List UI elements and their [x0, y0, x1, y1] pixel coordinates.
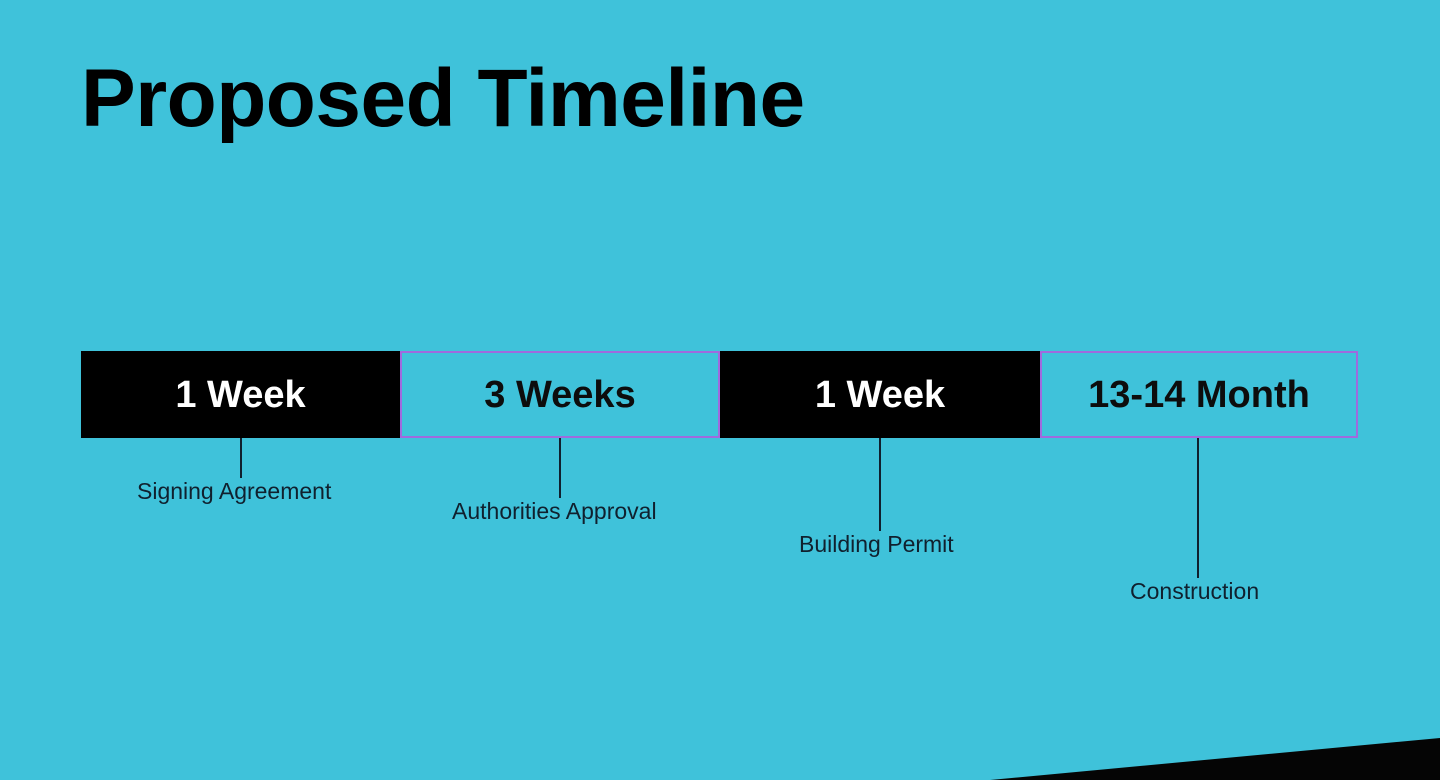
milestone-label-3: Building Permit: [799, 533, 954, 556]
timeline-segment-2-duration: 3 Weeks: [484, 376, 635, 414]
slide-canvas: Proposed Timeline 1 Week 3 Weeks 1 Week …: [0, 0, 1440, 780]
milestone-label-2: Authorities Approval: [452, 500, 657, 523]
connector-line-3: [879, 438, 881, 531]
timeline-segment-3[interactable]: 1 Week: [720, 351, 1040, 438]
timeline-segment-4-duration: 13-14 Month: [1088, 376, 1310, 414]
milestone-label-1: Signing Agreement: [137, 480, 331, 503]
timeline-segment-1[interactable]: 1 Week: [81, 351, 400, 438]
timeline-segment-4[interactable]: 13-14 Month: [1040, 351, 1358, 438]
timeline-diagram: 1 Week 3 Weeks 1 Week 13-14 Month Signin…: [0, 0, 1440, 780]
connector-line-1: [240, 438, 242, 478]
timeline-segment-2[interactable]: 3 Weeks: [400, 351, 720, 438]
timeline-segment-1-duration: 1 Week: [175, 376, 305, 414]
connector-line-2: [559, 438, 561, 498]
connector-line-4: [1197, 438, 1199, 578]
timeline-segment-3-duration: 1 Week: [815, 376, 945, 414]
milestone-label-4: Construction: [1130, 580, 1259, 603]
